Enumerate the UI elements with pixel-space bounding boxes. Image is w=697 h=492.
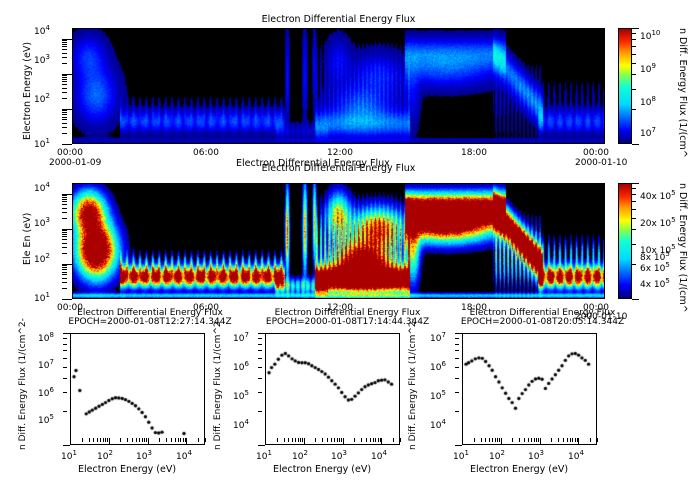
bl-xtick-3: 103 (136, 449, 152, 462)
bm-xtick-3: 103 (331, 449, 347, 462)
bm-ytick-6: 106 (233, 360, 249, 373)
spectrum-yaxis-tick (63, 392, 67, 393)
top-ytick-2: 102 (34, 92, 50, 105)
br-xtick-4: 104 (568, 449, 584, 462)
bm-ytick-7: 107 (233, 331, 249, 344)
middle-colorbar-label: n Diff. Energy Flux (1/(cm^ (677, 183, 688, 313)
mid-ytick-3: 103 (34, 216, 50, 229)
spectrum-yaxis-tick (63, 333, 70, 334)
br-ytick-6: 106 (430, 360, 446, 373)
spectrum-xaxis-tick (400, 438, 401, 442)
spectrum-yaxis-tick (258, 350, 262, 351)
top-yaxis-tick (62, 79, 67, 80)
top-colorbar-tick (632, 54, 636, 55)
top-yaxis-tick (62, 84, 67, 85)
br-subtitle: EPOCH=2000-01-08T20:05:14.344Z (445, 317, 640, 327)
spectrum-yaxis-tick (455, 333, 462, 334)
br-ytick-7: 107 (430, 331, 446, 344)
top-colorbar-tick (632, 89, 636, 90)
spectrum-yaxis-tick (63, 367, 67, 368)
spectrum-xaxis-tick (120, 438, 121, 442)
mid-colorbar-tick (632, 229, 636, 230)
mid-ytick-2: 102 (34, 252, 50, 265)
spectrum-xaxis-tick (144, 438, 145, 442)
bl-plot-frame (70, 333, 205, 445)
spectrum-xaxis-tick (597, 438, 598, 442)
bm-xlabel: Electron Energy (eV) (273, 464, 371, 475)
br-xtick-1: 101 (453, 449, 469, 462)
mid-yaxis-tick (62, 267, 67, 268)
spectrum-xaxis-tick (198, 438, 199, 442)
top-panel-ylabel: Electron Energy (eV) (22, 42, 33, 140)
top-colorbar-tick-8: 108 (640, 95, 656, 108)
top-colorbar (618, 28, 632, 144)
spectrum-xaxis-tick (492, 438, 493, 442)
spectrum-yaxis-tick (258, 333, 265, 334)
mid-yaxis-tick (62, 212, 67, 213)
mid-yaxis-tick (62, 218, 67, 219)
spectrum-yaxis-tick (258, 378, 262, 379)
mid-yaxis-tick (62, 199, 67, 200)
br-xtick-2: 102 (489, 449, 505, 462)
spectrum-yaxis-tick (258, 338, 262, 339)
spectrum-xaxis-tick (572, 438, 573, 442)
top-yaxis-tick (62, 88, 67, 89)
spectrum-xaxis-tick (322, 438, 323, 442)
bl-ytick-7: 107 (38, 358, 54, 371)
bl-ytick-5: 105 (38, 413, 54, 426)
bm-ytick-4: 104 (233, 418, 249, 431)
spectrum-xaxis-tick (139, 438, 140, 442)
top-yaxis-tick (62, 133, 67, 134)
spectrum-yaxis-tick (455, 445, 462, 446)
spectrum-xaxis-tick (341, 438, 342, 442)
spectrum-xaxis-tick (558, 438, 559, 442)
bm-plot-frame (265, 333, 400, 445)
spectrum-yaxis-tick (258, 358, 262, 359)
spectrum-xaxis-tick (183, 438, 184, 442)
spectrum-xaxis-tick (512, 438, 513, 442)
spectrum-xaxis-tick (540, 438, 541, 445)
spectrum-xaxis-tick (536, 438, 537, 442)
bl-ylabel: n Diff. Energy Flux (1/(cm^2- (18, 318, 28, 450)
spectrum-yaxis-tick (63, 338, 67, 339)
spectrum-xaxis-tick (570, 438, 571, 442)
spectrum-xaxis-tick (563, 438, 564, 442)
spectrum-xaxis-tick (109, 438, 110, 445)
spectrum-yaxis-tick (63, 344, 67, 345)
spectrum-xaxis-tick (107, 438, 108, 442)
spectrum-xaxis-tick (265, 438, 266, 445)
mid-yaxis-tick (62, 264, 72, 265)
spectrum-xaxis-tick (534, 438, 535, 442)
spectrum-xaxis-tick (489, 438, 490, 442)
spectrum-xaxis-tick (100, 438, 101, 442)
mid-yaxis-tick (62, 288, 67, 289)
top-yaxis-tick (62, 75, 67, 76)
mid-yaxis-tick (62, 208, 67, 209)
mid-yaxis-tick (62, 265, 67, 266)
br-ytick-4: 104 (430, 418, 446, 431)
spectrum-yaxis-tick (455, 350, 459, 351)
spectrum-xaxis-tick (370, 438, 371, 442)
spectrum-xaxis-tick (175, 438, 176, 442)
mid-yaxis-tick (62, 274, 67, 275)
spectrum-xaxis-tick (519, 438, 520, 442)
spectrum-xaxis-tick (180, 438, 181, 442)
top-colorbar-tick (632, 109, 636, 110)
spectrum-yaxis-tick (455, 392, 459, 393)
spectrum-xaxis-tick (82, 438, 83, 442)
mid-yaxis-tick (62, 230, 67, 231)
mid-colorbar-tick-6: 6x 105 (640, 261, 670, 274)
spectrum-xaxis-tick (97, 438, 98, 442)
top-yaxis-tick (62, 92, 67, 93)
spectrum-yaxis-tick (455, 344, 459, 345)
spectrum-xaxis-tick (538, 438, 539, 442)
middle-spectrogram-frame (72, 183, 605, 299)
spectrum-yaxis-tick (258, 367, 262, 368)
mid-yaxis-tick (62, 247, 67, 248)
mid-colorbar-tick (632, 183, 639, 184)
spectrum-xaxis-tick (136, 438, 137, 442)
top-colorbar-tick-10: 1010 (640, 29, 660, 42)
spectrum-xaxis-tick (497, 438, 498, 442)
spectrum-xaxis-tick (178, 438, 179, 442)
spectrum-xaxis-tick (105, 438, 106, 442)
mid-yaxis-tick (62, 194, 72, 195)
top-colorbar-tick (632, 33, 636, 34)
spectrum-yaxis-tick (258, 344, 262, 345)
spectrum-yaxis-tick (258, 445, 265, 446)
spectrum-xaxis-tick (304, 438, 305, 445)
mid-colorbar-tick (632, 264, 636, 265)
spectrum-yaxis-tick (455, 358, 459, 359)
spectrum-xaxis-tick (375, 438, 376, 442)
mid-colorbar-tick (632, 209, 636, 210)
top-xtick-3: 18:00 (461, 148, 487, 158)
top-panel-title: Electron Differential Energy Flux (72, 14, 605, 25)
spectrum-xaxis-tick (339, 438, 340, 442)
spectrum-xaxis-tick (337, 438, 338, 442)
top-xtick-2: 12:00 (327, 148, 353, 158)
spectrum-xaxis-tick (499, 438, 500, 442)
mid-yaxis-tick (62, 204, 67, 205)
top-yaxis-tick (62, 77, 67, 78)
spectrum-xaxis-tick (205, 438, 206, 442)
spectrum-xaxis-tick (528, 438, 529, 442)
spectrum-xaxis-tick (474, 438, 475, 442)
mid-yaxis-tick (62, 234, 67, 235)
mid-colorbar-tick-4: 4x 105 (640, 277, 670, 290)
top-colorbar-tick (632, 46, 636, 47)
mid-yaxis-tick (62, 269, 67, 270)
bl-xtick-4: 104 (176, 449, 192, 462)
spectrum-xaxis-tick (575, 438, 576, 442)
top-yaxis-tick (62, 110, 67, 111)
top-xtick-1: 06:00 (193, 148, 219, 158)
top-yaxis-tick (62, 117, 67, 118)
top-yaxis-tick (62, 144, 72, 145)
mid-yaxis-tick (62, 229, 72, 230)
spectrum-xaxis-tick (171, 438, 172, 442)
top-yaxis-tick (62, 39, 72, 40)
top-colorbar-tick (632, 39, 636, 40)
top-colorbar-tick-9: 109 (640, 62, 656, 75)
mid-colorbar-tick (632, 194, 636, 195)
spectrum-xaxis-tick (343, 438, 344, 445)
spectrum-yaxis-tick (258, 411, 262, 412)
spectrum-xaxis-tick (590, 438, 591, 442)
spectrum-xaxis-tick (495, 438, 496, 442)
bl-xlabel: Electron Energy (eV) (78, 464, 176, 475)
bl-xtick-1: 101 (61, 449, 77, 462)
bm-xtick-2: 102 (292, 449, 308, 462)
mid-colorbar-tick (632, 201, 636, 202)
spectrum-xaxis-tick (132, 438, 133, 442)
mid-ytick-4: 104 (34, 181, 50, 194)
mid-ytick-1: 101 (34, 291, 50, 304)
spectrum-xaxis-tick (166, 438, 167, 442)
top-yaxis-tick (62, 63, 67, 64)
mid-yaxis-tick (62, 236, 67, 237)
spectrum-xaxis-tick (146, 438, 147, 442)
top-yaxis-tick (62, 44, 67, 45)
spectrum-xaxis-tick (481, 438, 482, 442)
mid-colorbar-tick (632, 299, 639, 300)
spectrum-yaxis-tick (63, 358, 67, 359)
top-colorbar-label: n Diff. Energy Flux (1/(cm^ (677, 28, 688, 158)
spectrum-xaxis-tick (327, 438, 328, 442)
spectrum-xaxis-tick (462, 438, 463, 445)
top-yaxis-tick (62, 127, 67, 128)
spectrum-xaxis-tick (288, 438, 289, 442)
top-ytick-3: 103 (34, 53, 50, 66)
spectrum-yaxis-tick (63, 378, 67, 379)
mid-colorbar-tick (632, 218, 636, 219)
spectrum-yaxis-tick (455, 378, 459, 379)
spectrum-yaxis-tick (63, 350, 67, 351)
top-ytick-1: 101 (34, 137, 50, 150)
spectrum-yaxis-tick (63, 445, 70, 446)
spectrum-xaxis-tick (381, 438, 382, 445)
mid-yaxis-tick (62, 272, 67, 273)
middle-colorbar (618, 183, 632, 299)
spectrum-xaxis-tick (103, 438, 104, 442)
spectrum-xaxis-tick (366, 438, 367, 442)
top-xtick-0: 00:00 (57, 148, 83, 158)
top-yaxis-tick (62, 112, 67, 113)
spectrum-xaxis-tick (277, 438, 278, 442)
top-yaxis-tick (62, 98, 67, 99)
br-xtick-3: 103 (528, 449, 544, 462)
top-ytick-4: 104 (34, 24, 50, 37)
spectrum-xaxis-tick (298, 438, 299, 442)
spectrum-xaxis-tick (331, 438, 332, 442)
spectrum-xaxis-tick (295, 438, 296, 442)
top-yaxis-tick (62, 123, 67, 124)
spectrum-xaxis-tick (393, 438, 394, 442)
mid-yaxis-tick (62, 201, 67, 202)
spectrum-xaxis-tick (159, 438, 160, 442)
spectrum-yaxis-tick (455, 338, 459, 339)
mid-yaxis-tick (62, 282, 67, 283)
top-colorbar-tick (632, 144, 639, 145)
bm-xtick-1: 101 (256, 449, 272, 462)
mid-yaxis-tick (62, 253, 67, 254)
top-yaxis-tick (62, 119, 67, 120)
mid-yaxis-tick (62, 195, 67, 196)
spectrum-xaxis-tick (567, 438, 568, 442)
mid-colorbar-tick-20: 20x 105 (640, 216, 676, 229)
spectrum-xaxis-tick (354, 438, 355, 442)
top-yaxis-tick (62, 81, 67, 82)
mid-yaxis-tick (62, 299, 72, 300)
bl-ytick-6: 106 (38, 386, 54, 399)
spectrum-xaxis-tick (531, 438, 532, 442)
br-ylabel: n Diff. Energy Flux (1/(cm^2- (408, 318, 418, 450)
mid-colorbar-tick (632, 188, 636, 189)
spectrum-xaxis-tick (485, 438, 486, 442)
spectrum-xaxis-tick (501, 438, 502, 445)
spectrum-xaxis-tick (186, 438, 187, 445)
mid-yaxis-tick (62, 243, 67, 244)
spectrum-xaxis-tick (551, 438, 552, 442)
mid-yaxis-tick (62, 232, 67, 233)
top-yaxis-tick (62, 42, 67, 43)
spectrum-xaxis-tick (127, 438, 128, 442)
spectrum-yaxis-tick (455, 367, 459, 368)
bm-ytick-5: 105 (233, 389, 249, 402)
mid-colorbar-tick-40: 40x 105 (640, 189, 676, 202)
top-colorbar-tick (632, 28, 639, 29)
spectrum-xaxis-tick (373, 438, 374, 442)
br-ytick-5: 105 (430, 389, 446, 402)
spectrum-xaxis-tick (524, 438, 525, 442)
middle-panel-title: Electron Differential Energy Flux (72, 163, 605, 174)
bl-xtick-2: 102 (97, 449, 113, 462)
bl-ytick-8: 108 (38, 331, 54, 344)
top-yaxis-tick (62, 46, 67, 47)
spectrum-yaxis-tick (258, 392, 262, 393)
top-yaxis-tick (62, 40, 67, 41)
top-yaxis-tick (62, 109, 72, 110)
top-xtick-4: 00:00 (583, 148, 609, 158)
br-xlabel: Electron Energy (eV) (470, 464, 568, 475)
top-colorbar-tick-7: 107 (640, 126, 656, 139)
spectrum-xaxis-tick (148, 438, 149, 445)
spectrum-xaxis-tick (292, 438, 293, 442)
bm-ylabel: n Diff. Energy Flux (1/(cm^2- (213, 318, 223, 450)
spectrum-xaxis-tick (334, 438, 335, 442)
top-spectrogram-frame (72, 28, 605, 144)
top-yaxis-tick (62, 114, 67, 115)
top-colorbar-tick (632, 63, 636, 64)
top-yaxis-tick (62, 74, 72, 75)
top-colorbar-tick (632, 74, 636, 75)
spectrum-xaxis-tick (302, 438, 303, 442)
spectrum-yaxis-tick (63, 411, 67, 412)
mid-yaxis-tick (62, 278, 67, 279)
spectrum-xaxis-tick (142, 438, 143, 442)
spectrum-yaxis-tick (455, 411, 459, 412)
spectrum-xaxis-tick (578, 438, 579, 445)
top-yaxis-tick (62, 57, 67, 58)
spectrum-xaxis-tick (284, 438, 285, 442)
spectrum-xaxis-tick (315, 438, 316, 442)
mid-yaxis-tick (62, 197, 67, 198)
spectrum-xaxis-tick (361, 438, 362, 442)
spectrum-xaxis-tick (300, 438, 301, 442)
mid-colorbar-tick (632, 244, 636, 245)
spectrum-xaxis-tick (378, 438, 379, 442)
top-yaxis-tick (62, 49, 67, 50)
spectrum-xaxis-tick (89, 438, 90, 442)
spectrum-xaxis-tick (93, 438, 94, 442)
bm-xtick-4: 104 (371, 449, 387, 462)
spectrum-xaxis-tick (70, 438, 71, 445)
middle-panel-ylabel: Ele En (eV) (22, 213, 33, 265)
mid-yaxis-tick (62, 239, 67, 240)
br-plot-frame (462, 333, 597, 445)
top-yaxis-tick (62, 53, 67, 54)
